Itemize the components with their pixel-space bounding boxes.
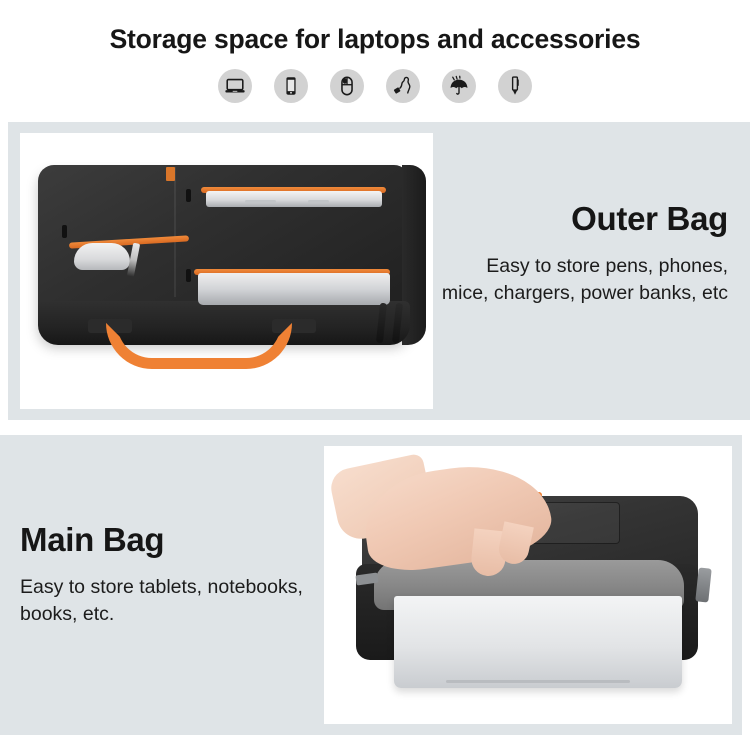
- main-bag-photo: [324, 446, 732, 724]
- zipper-pull-right: [695, 567, 711, 602]
- outer-bag-illustration: [26, 151, 426, 391]
- product-feature-page: Storage space for laptops and accessorie…: [0, 0, 750, 750]
- hand: [364, 468, 550, 588]
- pen-icon: [498, 69, 532, 103]
- outer-bag-heading: Outer Bag: [436, 202, 728, 237]
- main-zipper-pulls: [372, 303, 412, 349]
- laptop-icon: [218, 69, 252, 103]
- mouse-in-pocket: [74, 243, 130, 270]
- main-bag-panel: Main Bag Easy to store tablets, notebook…: [0, 435, 742, 735]
- page-title: Storage space for laptops and accessorie…: [0, 24, 750, 55]
- main-bag-text: Main Bag Easy to store tablets, notebook…: [20, 523, 312, 629]
- main-bag-body: Easy to store tablets, notebooks, books,…: [20, 574, 312, 629]
- outer-bag-text: Outer Bag Easy to store pens, phones, mi…: [436, 202, 728, 308]
- outer-bag-panel: Outer Bag Easy to store pens, phones, mi…: [8, 122, 750, 420]
- smartphone-icon: [274, 69, 308, 103]
- tablet-in-pocket: [198, 273, 390, 305]
- main-bag-heading: Main Bag: [20, 523, 312, 558]
- main-bag-illustration: [338, 468, 718, 704]
- brand-tag: [166, 167, 175, 181]
- charger-cable-icon: [386, 69, 420, 103]
- feature-icon-row: [0, 69, 750, 103]
- carry-handle: [106, 323, 292, 369]
- outer-bag-body: Easy to store pens, phones, mice, charge…: [436, 253, 728, 308]
- laptop-inserted: [394, 596, 682, 688]
- umbrella-icon: [442, 69, 476, 103]
- mouse-icon: [330, 69, 364, 103]
- outer-bag-photo: [20, 133, 433, 409]
